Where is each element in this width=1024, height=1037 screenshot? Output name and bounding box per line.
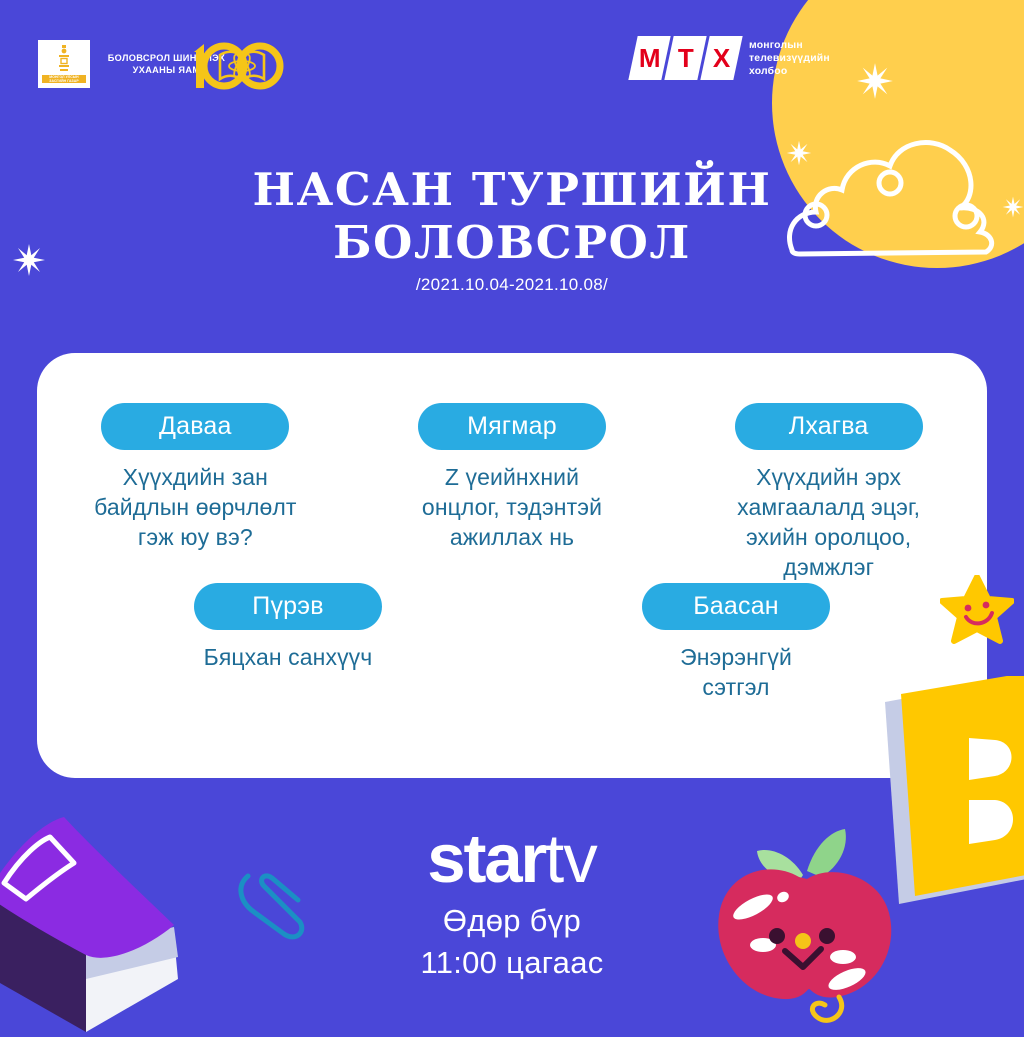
schedule-item-myagmar[interactable]: Мягмар Z үеийнхний онцлог, тэдэнтэй ажил… [377,403,647,582]
day-topic: Хүүхдийн зан байдлын өөрчлөлт гэж юу вэ? [94,462,296,552]
broadcast-frequency: Өдөр бүр [0,900,1024,942]
day-badge[interactable]: Пүрэв [194,583,382,630]
title-line-1: НАСАН ТУРШИЙН [0,163,1024,216]
day-topic: Z үеийнхний онцлог, тэдэнтэй ажиллах нь [422,462,602,552]
ministry-emblem-icon: МОНГОЛ УЛСЫН ЗАСГИЙН ГАЗАР [38,40,90,88]
mtx-letter-t: Т [664,36,706,80]
schedule-item-lhagva[interactable]: Лхагва Хүүхдийн эрх хамгаалалд эцэг, эхи… [694,403,964,582]
day-badge[interactable]: Лхагва [735,403,923,450]
day-topic: Энэрэнгүй сэтгэл [680,642,792,702]
startv-logo-suffix: tv [545,820,597,897]
day-topic: Бяцхан санхүүч [204,642,373,672]
title-line-2: БОЛОВСРОЛ [0,216,1024,269]
mtx-letter-x: Х [700,36,742,80]
startv-logo-main: star [427,820,545,897]
anniversary-100-logo [186,36,286,94]
mtx-name: монголын телевизүүдийн холбоо [749,39,830,78]
schedule-item-baasan[interactable]: Баасан Энэрэнгүй сэтгэл [601,583,871,702]
mtx-letter-m: М [628,36,670,80]
ministry-emblem-caption: МОНГОЛ УЛСЫН ЗАСГИЙН ГАЗАР [42,75,86,84]
day-badge[interactable]: Даваа [101,403,289,450]
mtx-logo: М Т Х монголын телевизүүдийн холбоо [633,36,830,80]
day-topic: Хүүхдийн эрх хамгаалалд эцэг, эхийн орол… [737,462,920,582]
broadcast-time: 11:00 цагаас [0,942,1024,984]
page-title: НАСАН ТУРШИЙН БОЛОВСРОЛ /2021.10.04-2021… [0,163,1024,295]
day-badge[interactable]: Баасан [642,583,830,630]
title-date-range: /2021.10.04-2021.10.08/ [0,275,1024,295]
header-logos: МОНГОЛ УЛСЫН ЗАСГИЙН ГАЗАР БОЛОВСРОЛ ШИН… [0,0,1024,120]
schedule-panel: Даваа Хүүхдийн зан байдлын өөрчлөлт гэж … [37,353,987,778]
mtx-mark-icon: М Т Х [633,36,738,80]
startv-logo: startv [0,822,1024,896]
schedule-item-davaa[interactable]: Даваа Хүүхдийн зан байдлын өөрчлөлт гэж … [60,403,330,582]
brand-block: startv Өдөр бүр 11:00 цагаас [0,822,1024,984]
schedule-item-purev[interactable]: Пүрэв Бяцхан санхүүч [153,583,423,702]
schedule-row-1: Даваа Хүүхдийн зан байдлын өөрчлөлт гэж … [37,403,987,582]
schedule-row-2: Пүрэв Бяцхан санхүүч Баасан Энэрэнгүй сэ… [37,583,987,702]
day-badge[interactable]: Мягмар [418,403,606,450]
